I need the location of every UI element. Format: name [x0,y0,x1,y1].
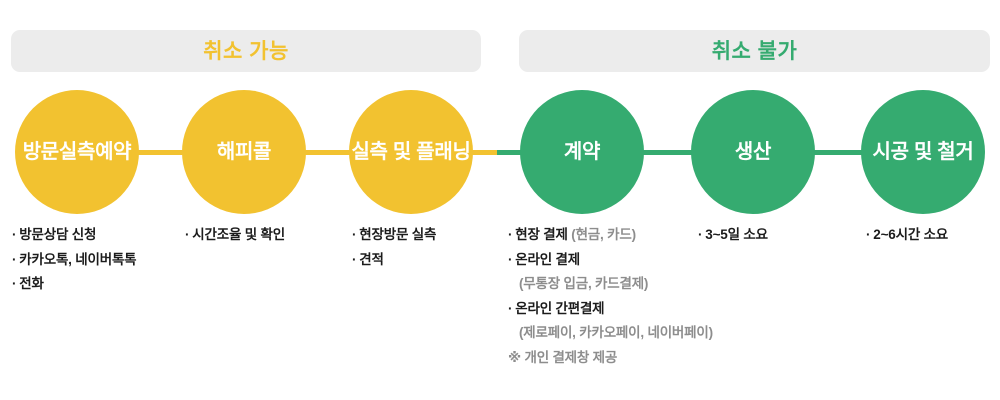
step-node-label: 해피콜 [217,142,271,162]
step-node-label: 생산 [735,142,771,162]
bullet-icon: · [866,228,870,242]
bullet-icon: · [185,228,189,242]
bullet-icon: · [508,228,512,242]
detail-item: ·방문상담 신청 [12,228,177,242]
detail-item: ·카카오톡, 네이버톡톡 [12,253,177,267]
connector-step4-step5 [636,150,698,155]
detail-list-step3: ·현장방문 실측 ·견적 [352,228,502,266]
detail-item: ·2~6시간 소요 [866,228,1000,242]
detail-item-text: 시간조율 및 확인 [192,227,285,242]
process-flow-diagram: 취소 가능 취소 불가 방문실측예약 해피콜 실측 및 플래닝 계약 생산 시공… [0,0,1000,400]
connector-step2-step3 [297,150,357,155]
step-node-label: 시공 및 철거 [872,142,973,162]
detail-item-text: 현장방문 실측 [359,227,436,242]
bullet-icon: · [352,253,356,267]
detail-item: ·현장방문 실측 [352,228,502,242]
bullet-icon: · [508,302,512,316]
detail-list-step6: ·2~6시간 소요 [866,228,1000,242]
detail-item: ·온라인 결제 [508,253,738,267]
detail-item: ·온라인 간편결제 [508,302,738,316]
step-node-visit-measurement-booking[interactable]: 방문실측예약 [15,90,139,214]
detail-item-text: 현장 결제 [515,227,567,242]
group-header-cancelable: 취소 가능 [11,30,481,72]
connector-step1-step2 [130,150,190,155]
detail-item-text: 온라인 결제 [515,252,580,267]
detail-item-text: 2~6시간 소요 [873,227,948,242]
detail-item: ·견적 [352,253,502,267]
bullet-icon: · [12,277,16,291]
detail-item: ·3~5일 소요 [698,228,848,242]
detail-item-text: 3~5일 소요 [705,227,768,242]
connector-step5-step6 [807,150,869,155]
bullet-icon: · [698,228,702,242]
detail-item-paren: (현금, 카드) [571,227,636,242]
step-node-label: 계약 [564,142,600,162]
detail-list-step2: ·시간조율 및 확인 [185,228,345,242]
detail-list-step5: ·3~5일 소요 [698,228,848,242]
detail-item-text: 전화 [19,276,43,291]
detail-item-text: 방문상담 신청 [19,227,96,242]
detail-note: ※ 개인 결제창 제공 [508,351,738,365]
detail-item-subtext: (무통장 입금, 카드결제) [508,277,738,291]
step-node-production[interactable]: 생산 [691,90,815,214]
step-node-measurement-planning[interactable]: 실측 및 플래닝 [349,90,473,214]
detail-item-text: 견적 [359,252,383,267]
detail-list-step4: ·현장 결제 (현금, 카드) ·온라인 결제 (무통장 입금, 카드결제) ·… [508,228,738,364]
detail-item-subtext: (제로페이, 카카오페이, 네이버페이) [508,326,738,340]
detail-item-text: 카카오톡, 네이버톡톡 [19,252,136,267]
detail-item: ·전화 [12,277,177,291]
detail-item: ·시간조율 및 확인 [185,228,345,242]
group-header-cancelable-label: 취소 가능 [203,41,289,62]
step-node-label: 실측 및 플래닝 [351,142,470,162]
bullet-icon: · [508,253,512,267]
step-node-happy-call[interactable]: 해피콜 [182,90,306,214]
detail-list-step1: ·방문상담 신청 ·카카오톡, 네이버톡톡 ·전화 [12,228,177,291]
step-node-contract[interactable]: 계약 [520,90,644,214]
step-node-label: 방문실측예약 [23,142,132,162]
bullet-icon: · [352,228,356,242]
group-header-noncancelable: 취소 불가 [519,30,990,72]
bullet-icon: · [12,228,16,242]
bullet-icon: · [12,253,16,267]
group-header-noncancelable-label: 취소 불가 [712,41,798,62]
detail-item-text: 온라인 간편결제 [515,301,604,316]
step-node-installation-removal[interactable]: 시공 및 철거 [861,90,985,214]
